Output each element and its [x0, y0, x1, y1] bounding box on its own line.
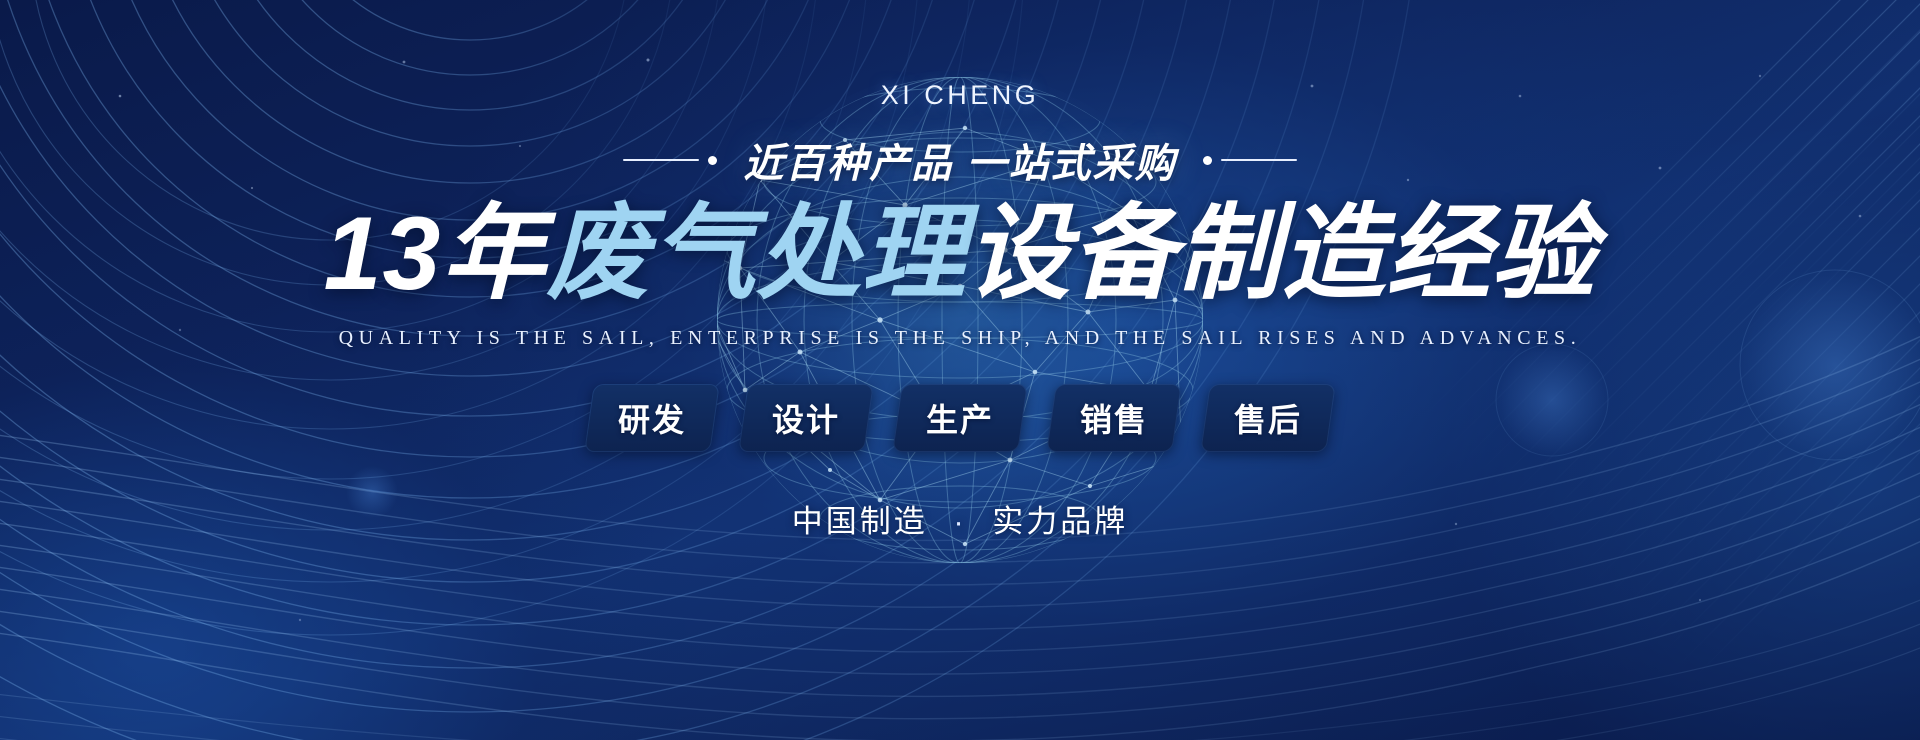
badge-label: 研发 [618, 395, 686, 441]
footer-slogan: 中国制造 · 实力品牌 [792, 496, 1129, 541]
subline-text: 近百种产品 一站式采购 [743, 131, 1176, 189]
divider-dot [1203, 156, 1212, 165]
left-divider-decoration [623, 156, 717, 165]
english-tagline: QUALITY IS THE SAIL, ENTERPRISE IS THE S… [339, 327, 1582, 350]
subline-row: 近百种产品 一站式采购 [623, 131, 1296, 189]
footer-slogan-right: 实力品牌 [992, 504, 1128, 539]
badge-xiaoshou[interactable]: 销售 [1046, 384, 1182, 452]
divider-dot [708, 156, 717, 165]
footer-slogan-left: 中国制造 [792, 504, 928, 539]
badge-shouhou[interactable]: 售后 [1200, 384, 1336, 452]
brand-name: XI CHENG [881, 80, 1040, 111]
badge-yanfa[interactable]: 研发 [584, 384, 720, 452]
footer-separator: · [953, 504, 966, 539]
badge-label: 销售 [1080, 395, 1148, 441]
hero-banner: XI CHENG 近百种产品 一站式采购 13年废气处理设备制造经验 QUALI… [0, 0, 1920, 740]
badge-label: 售后 [1234, 395, 1302, 441]
badge-label: 设计 [772, 395, 840, 441]
badge-shengchan[interactable]: 生产 [892, 384, 1028, 452]
badge-label: 生产 [926, 395, 994, 441]
headline-highlight: 废气处理 [546, 196, 966, 312]
service-badge-list: 研发 设计 生产 销售 售后 [589, 384, 1331, 452]
headline-part-2: 设备制造经验 [966, 196, 1596, 312]
page-title: 13年废气处理设备制造经验 [324, 195, 1597, 315]
headline-part-1: 13年 [324, 196, 547, 312]
banner-content: XI CHENG 近百种产品 一站式采购 13年废气处理设备制造经验 QUALI… [0, 0, 1920, 740]
divider-bar [1221, 159, 1297, 161]
right-divider-decoration [1203, 156, 1297, 165]
divider-bar [623, 159, 699, 161]
badge-sheji[interactable]: 设计 [738, 384, 874, 452]
